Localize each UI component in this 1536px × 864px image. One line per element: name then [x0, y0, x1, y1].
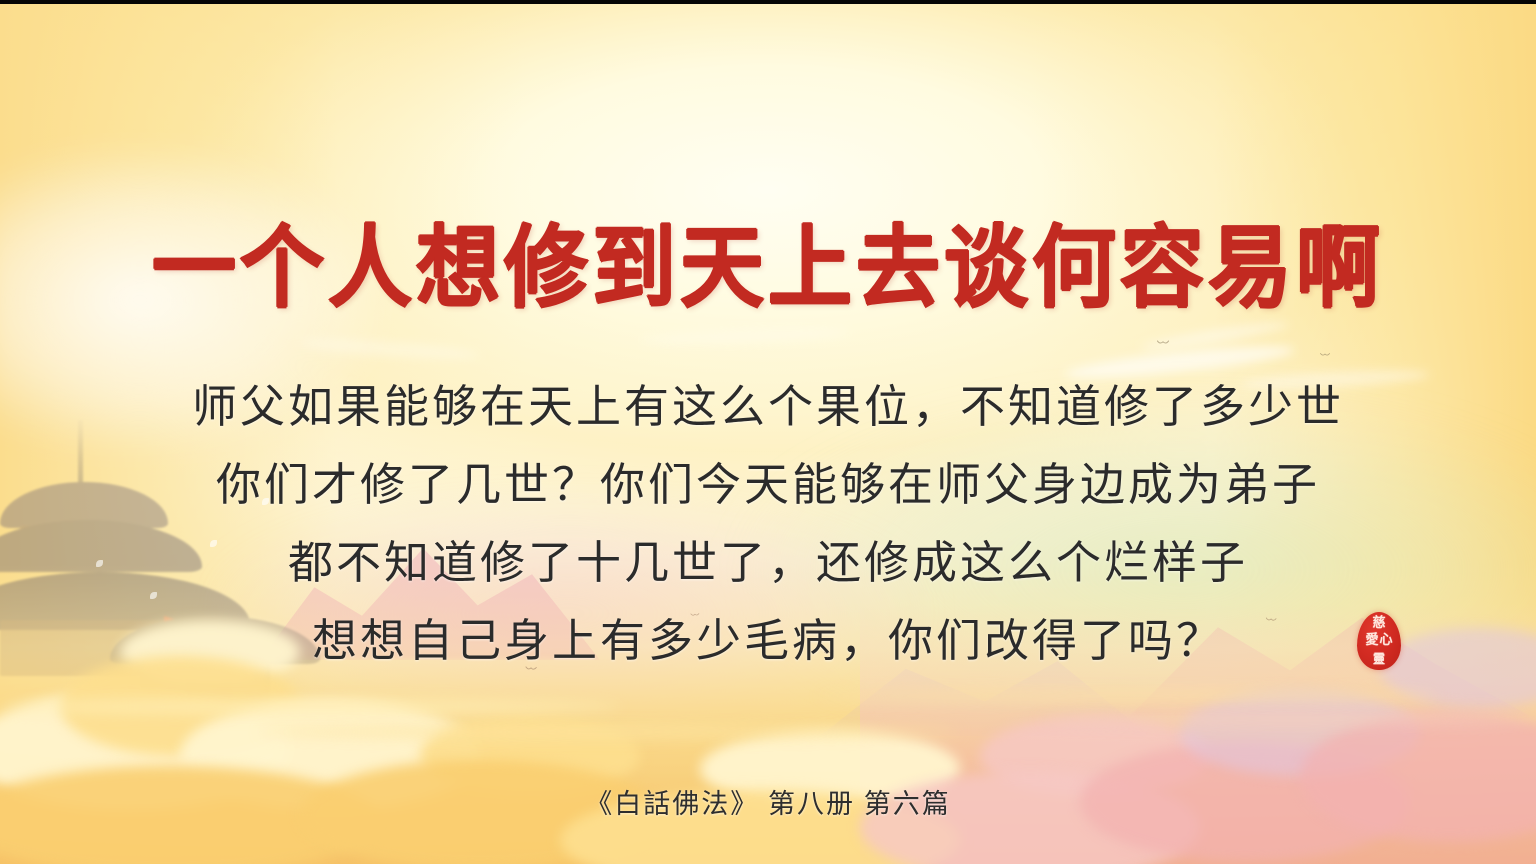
seal-row-middle: 愛 心: [1365, 634, 1392, 647]
poster-content: 一个人想修到天上去谈何容易啊 师父如果能够在天上有这么个果位，不知道修了多少世 …: [0, 0, 1536, 864]
seal-character: 愛: [1365, 634, 1378, 648]
seal-row-bottom: 靈: [1373, 653, 1385, 665]
quote-body: 师父如果能够在天上有这么个果位，不知道修了多少世 你们才修了几世？你们今天能够在…: [0, 368, 1536, 680]
seal-row-top: 慈: [1372, 617, 1385, 630]
quote-line: 师父如果能够在天上有这么个果位，不知道修了多少世: [0, 368, 1536, 446]
letterbox-bar-top: [0, 0, 1536, 4]
quote-line: 你们才修了几世？你们今天能够在师父身边成为弟子: [0, 446, 1536, 524]
quote-line: 想想自己身上有多少毛病，你们改得了吗？: [0, 602, 1536, 680]
quote-line: 都不知道修了十几世了，还修成这么个烂样子: [0, 524, 1536, 602]
source-citation: 《白話佛法》 第八册 第六篇: [0, 782, 1536, 821]
page-title: 一个人想修到天上去谈何容易啊: [0, 223, 1536, 312]
quote-poster: 一个人想修到天上去谈何容易啊 师父如果能够在天上有这么个果位，不知道修了多少世 …: [0, 0, 1536, 864]
seal-character: 慈: [1372, 617, 1385, 631]
seal-character: 心: [1380, 634, 1393, 648]
seal-character: 靈: [1373, 652, 1385, 665]
artist-seal-stamp: 慈 愛 心 靈: [1357, 612, 1401, 670]
